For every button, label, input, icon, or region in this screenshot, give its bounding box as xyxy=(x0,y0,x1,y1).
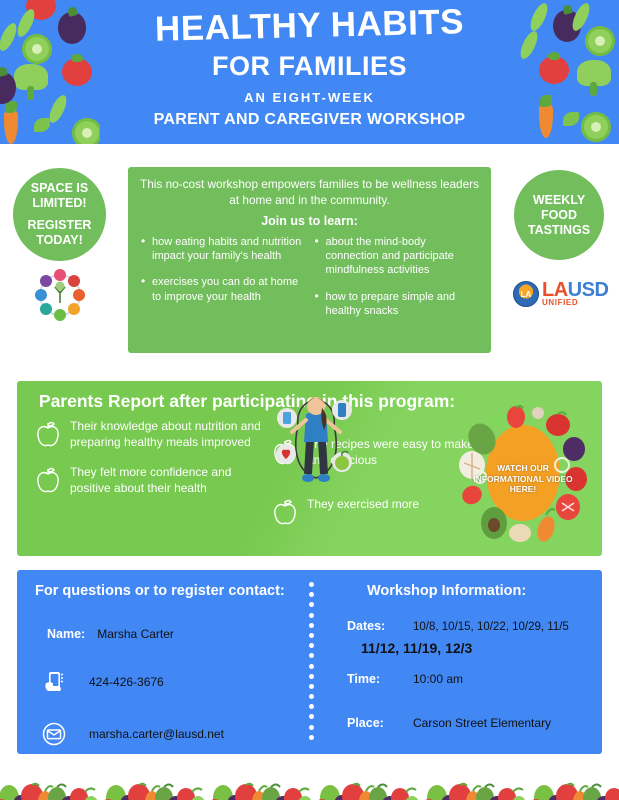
report-item-text: Their knowledge about nutrition and prep… xyxy=(70,419,272,451)
cucumber-slice-icon xyxy=(22,34,52,64)
vegetable-cluster xyxy=(0,764,105,800)
page-subtitle: FOR FAMILIES xyxy=(212,52,407,80)
vegetable-cluster xyxy=(102,764,212,800)
dotted-divider xyxy=(309,582,317,744)
broccoli-icon xyxy=(577,60,611,86)
contact-name-row: Name: Marsha Carter xyxy=(35,627,313,641)
workshop-time-label: Time: xyxy=(347,672,403,686)
pea-pod-icon xyxy=(0,21,20,53)
list-item: They felt more confidence and positive a… xyxy=(35,465,272,497)
apple-icon xyxy=(35,420,61,449)
workshop-dates-value-2: 11/12, 11/19, 12/3 xyxy=(361,640,602,656)
eggplant-icon xyxy=(58,12,86,44)
intro-section: SPACE IS LIMITED! REGISTER TODAY! xyxy=(0,144,619,376)
vegetable-cluster xyxy=(316,764,426,800)
list-item: The recipes were easy to make and delici… xyxy=(272,437,477,469)
tomato-icon xyxy=(539,56,569,84)
contact-column: For questions or to register contact: Na… xyxy=(17,570,313,754)
contact-section: For questions or to register contact: Na… xyxy=(17,570,602,754)
flyer-page: HEALTHY HABITS FOR FAMILIES AN EIGHT-WEE… xyxy=(0,0,619,800)
join-us-heading: Join us to learn: xyxy=(140,214,479,228)
broccoli-icon xyxy=(14,64,48,90)
intro-bullets-left: how eating habits and nutrition impact y… xyxy=(140,235,310,330)
lausd-unified-text: UNIFIED xyxy=(542,300,608,307)
contact-phone-row[interactable]: 424-426-3676 xyxy=(35,669,313,695)
report-item-text: They exercised more xyxy=(307,497,419,513)
workshop-dates-value: 10/8, 10/15, 10/22, 10/29, 11/5 xyxy=(413,621,569,633)
workshop-dates-row: Dates: 10/8, 10/15, 10/22, 10/29, 11/5 xyxy=(347,619,602,633)
apple-icon xyxy=(35,466,61,495)
list-item: They exercised more xyxy=(272,497,477,527)
envelope-icon xyxy=(41,721,67,747)
pea-pod-icon xyxy=(519,29,541,61)
badge-left-line4: TODAY! xyxy=(28,233,92,248)
vegetable-border-left xyxy=(0,0,100,144)
contact-email-value: marsha.carter@lausd.net xyxy=(89,727,224,741)
lausd-seal-icon: LA xyxy=(513,281,539,307)
page-title: HEALTHY HABITS xyxy=(155,4,465,48)
workshop-time-row: Time: 10:00 am xyxy=(347,672,602,686)
contact-email-row[interactable]: marsha.carter@lausd.net xyxy=(35,721,313,747)
divider-dot xyxy=(309,735,314,740)
phone-icon xyxy=(41,669,67,695)
header-banner: HEALTHY HABITS FOR FAMILIES AN EIGHT-WEE… xyxy=(0,0,619,144)
contact-name-value: Marsha Carter xyxy=(97,627,174,641)
badge-right-line2: FOOD xyxy=(528,208,590,223)
intro-paragraph: This no-cost workshop empowers families … xyxy=(140,177,479,209)
header-eyebrow: AN EIGHT-WEEK xyxy=(244,90,375,105)
vegetable-cluster xyxy=(423,764,533,800)
cucumber-slice-icon xyxy=(585,26,615,56)
divider-dot xyxy=(309,592,314,597)
vegetable-border-bottom xyxy=(0,762,619,800)
apple-icon xyxy=(272,438,298,467)
list-item: how eating habits and nutrition impact y… xyxy=(140,235,306,264)
space-is-limited-badge: SPACE IS LIMITED! REGISTER TODAY! xyxy=(13,168,106,261)
contact-phone-value: 424-426-3676 xyxy=(89,675,164,689)
tomato-icon xyxy=(62,58,92,86)
vegetable-border-right xyxy=(519,0,619,144)
list-item: exercises you can do at home to improve … xyxy=(140,275,306,304)
badge-right-line3: TASTINGS xyxy=(528,223,590,238)
report-column-left: Their knowledge about nutrition and prep… xyxy=(17,419,272,541)
intro-green-box: This no-cost workshop empowers families … xyxy=(128,167,491,353)
divider-dot xyxy=(309,643,314,648)
badge-left-line1: SPACE IS xyxy=(28,181,92,196)
list-item: Their knowledge about nutrition and prep… xyxy=(35,419,272,451)
carrot-icon xyxy=(539,104,553,138)
workshop-place-row: Place: Carson Street Elementary xyxy=(347,716,602,730)
divider-dot xyxy=(309,664,314,669)
list-item: how to prepare simple and healthy snacks xyxy=(314,290,480,319)
vegetable-cluster xyxy=(209,764,319,800)
cucumber-slice-icon xyxy=(581,112,611,142)
wellness-circle-logo xyxy=(31,269,89,321)
cucumber-slice-icon xyxy=(72,118,100,144)
badge-left-line3: REGISTER xyxy=(28,218,92,233)
leaf-icon xyxy=(34,118,50,132)
vegetable-cluster xyxy=(530,764,619,800)
divider-dot xyxy=(309,714,314,719)
apple-icon xyxy=(272,498,298,527)
contact-heading: For questions or to register contact: xyxy=(35,583,313,599)
video-label-text: WATCH OUR INFORMATIONAL VIDEO HERE! xyxy=(466,463,580,495)
workshop-place-label: Place: xyxy=(347,716,403,730)
parents-report-section: Parents Report after participating in th… xyxy=(17,381,602,556)
weekly-food-tastings-badge: WEEKLY FOOD TASTINGS xyxy=(514,170,604,260)
divider-dot xyxy=(309,694,314,699)
list-item: about the mind-body connection and parti… xyxy=(314,235,480,278)
report-item-text: They felt more confidence and positive a… xyxy=(70,465,272,497)
divider-dot xyxy=(309,674,314,679)
divider-dot xyxy=(309,602,314,607)
badge-right-line1: WEEKLY xyxy=(528,193,590,208)
workshop-place-value: Carson Street Elementary xyxy=(413,716,551,730)
workshop-info-heading: Workshop Information: xyxy=(367,583,602,599)
divider-dot xyxy=(309,725,314,730)
report-item-text: The recipes were easy to make and delici… xyxy=(307,437,477,469)
divider-dot xyxy=(309,684,314,689)
lausd-wordmark-main: LAUSD xyxy=(542,282,608,299)
intro-bullets-right: about the mind-body connection and parti… xyxy=(310,235,480,330)
report-column-right: The recipes were easy to make and delici… xyxy=(272,419,477,541)
workshop-time-value: 10:00 am xyxy=(413,672,463,686)
divider-dot xyxy=(309,623,314,628)
header-text-block: HEALTHY HABITS FOR FAMILIES AN EIGHT-WEE… xyxy=(100,0,519,144)
workshop-dates-label: Dates: xyxy=(347,619,403,633)
divider-dot xyxy=(309,613,314,618)
badge-left-line2: LIMITED! xyxy=(28,196,92,211)
pea-pod-icon xyxy=(527,1,551,33)
intro-bullet-columns: how eating habits and nutrition impact y… xyxy=(140,235,479,330)
informational-video-link[interactable]: WATCH OUR INFORMATIONAL VIDEO HERE! xyxy=(458,403,588,543)
carrot-icon xyxy=(4,110,18,144)
contact-name-label: Name: xyxy=(47,627,85,641)
divider-dot xyxy=(309,653,314,658)
header-workshop-line: PARENT AND CAREGIVER WORKSHOP xyxy=(154,111,466,129)
lausd-wordmark: LAUSD UNIFIED xyxy=(542,282,608,307)
leaf-icon xyxy=(563,112,579,126)
divider-dot xyxy=(309,633,314,638)
workshop-info-column: Workshop Information: Dates: 10/8, 10/15… xyxy=(317,570,602,754)
divider-dot xyxy=(309,704,314,709)
lausd-logo: LA LAUSD UNIFIED xyxy=(513,278,611,310)
report-title: Parents Report after participating in th… xyxy=(27,381,467,412)
divider-dot xyxy=(309,582,314,587)
